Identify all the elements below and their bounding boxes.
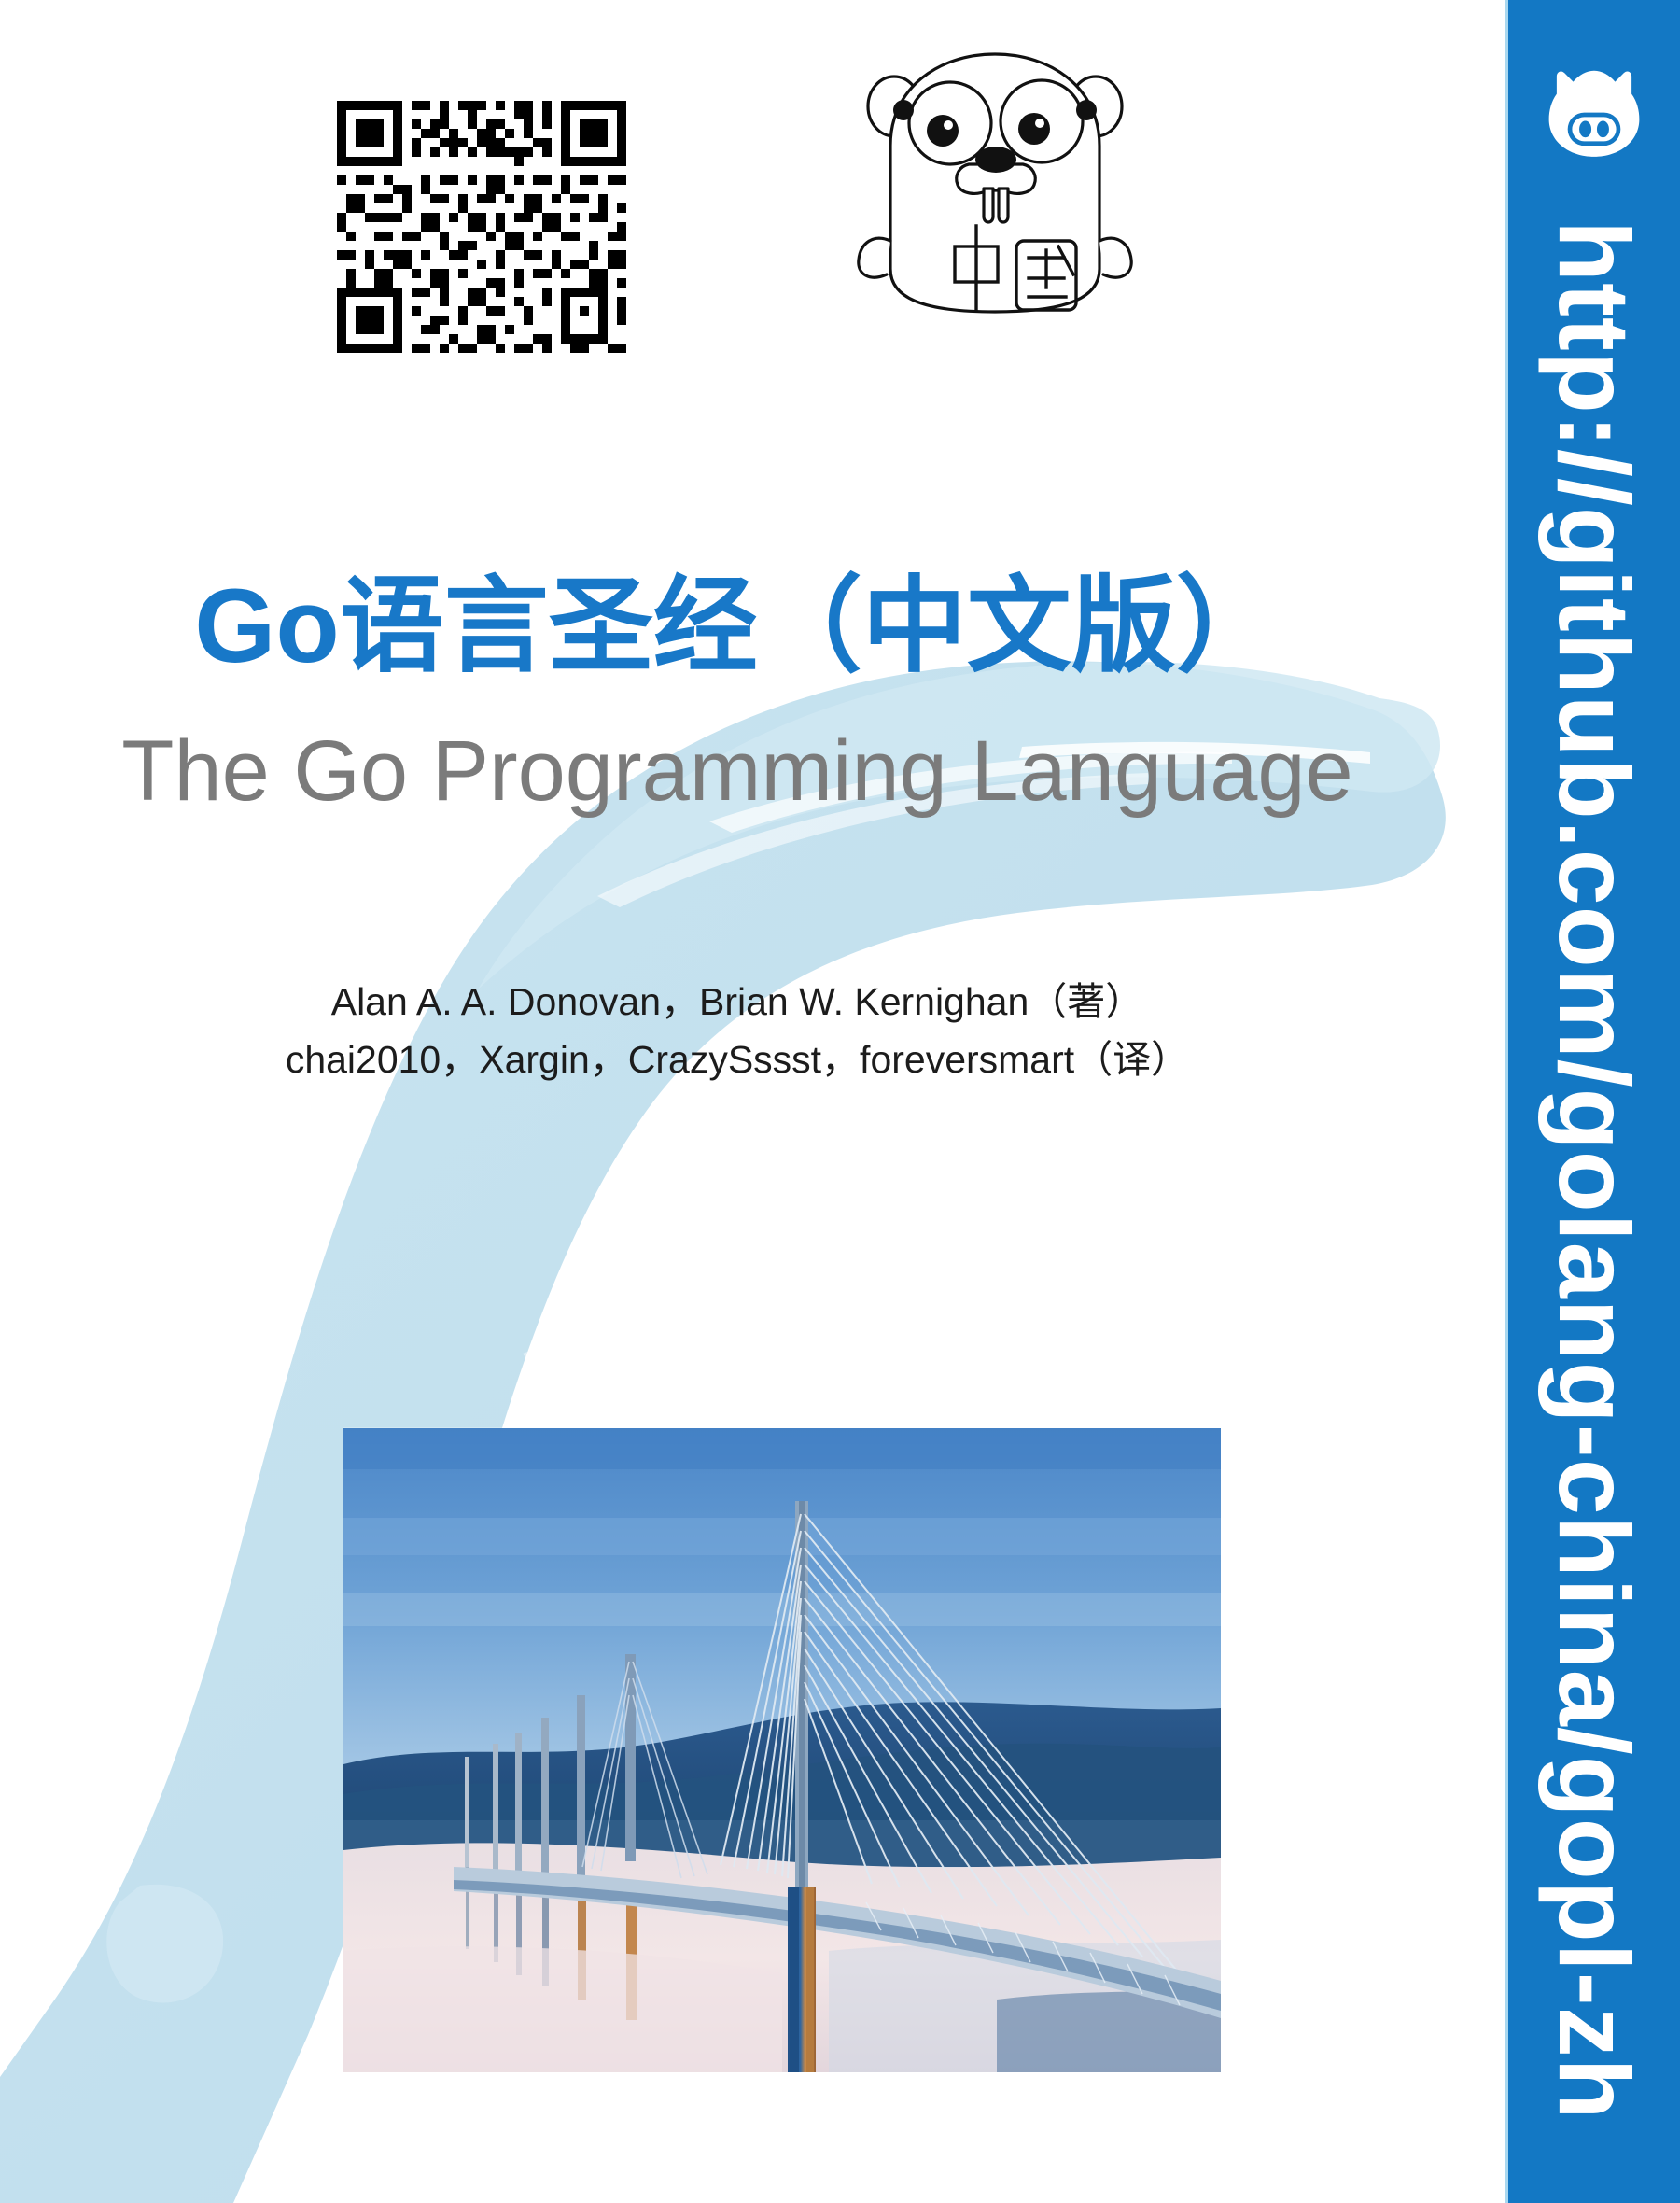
repo-url[interactable]: http://github.com/golang-china/gopl-zh — [1529, 220, 1659, 2106]
book-title-chinese: Go语言圣经（中文版） — [0, 571, 1475, 681]
qr-code[interactable] — [325, 91, 638, 362]
bridge-photo — [343, 1428, 1221, 2072]
github-octocat-icon[interactable] — [1539, 60, 1649, 170]
book-title-english: The Go Programming Language — [0, 726, 1475, 817]
credits-block: Alan A. A. Donovan，Brian W. Kernighan（著）… — [0, 973, 1475, 1089]
book-cover: Go语言圣经（中文版） The Go Programming Language … — [0, 0, 1680, 2203]
translators-line: chai2010，Xargin，CrazySssst，foreversmart（… — [0, 1031, 1475, 1088]
go-gopher-icon — [846, 34, 1144, 314]
github-sidebar: http://github.com/golang-china/gopl-zh — [1505, 0, 1680, 2203]
repo-url-text: http://github.com/golang-china/gopl-zh — [1544, 220, 1645, 2121]
authors-line: Alan A. A. Donovan，Brian W. Kernighan（著） — [0, 973, 1475, 1031]
